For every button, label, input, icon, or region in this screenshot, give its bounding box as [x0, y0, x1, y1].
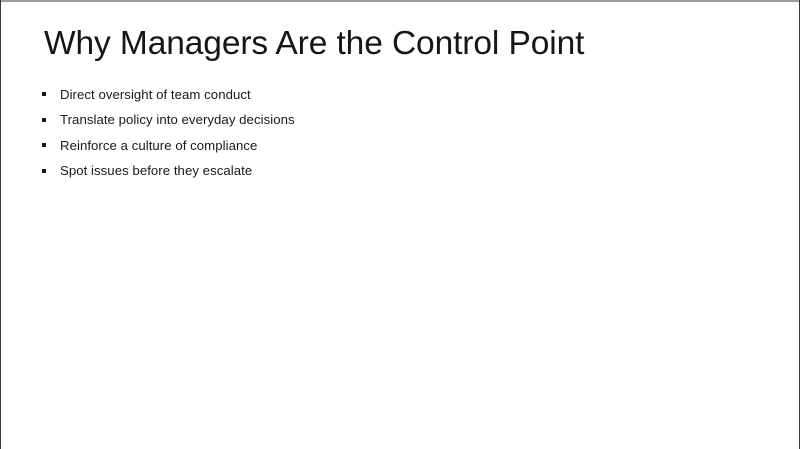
list-item: Reinforce a culture of compliance	[42, 133, 752, 159]
slide-empty-region	[1, 190, 799, 449]
list-item-label: Reinforce a culture of compliance	[60, 137, 257, 155]
bullet-list: Direct oversight of team conduct Transla…	[42, 82, 752, 184]
square-bullet-icon	[42, 118, 46, 122]
square-bullet-icon	[42, 92, 46, 96]
slide-content-area: Why Managers Are the Control Point Direc…	[0, 0, 800, 449]
presentation-slide: Why Managers Are the Control Point Direc…	[0, 0, 800, 449]
list-item: Spot issues before they escalate	[42, 159, 752, 185]
list-item-label: Direct oversight of team conduct	[60, 86, 251, 104]
list-item: Translate policy into everyday decisions	[42, 108, 752, 134]
list-item-label: Translate policy into everyday decisions	[60, 111, 295, 129]
square-bullet-icon	[42, 169, 46, 173]
list-item: Direct oversight of team conduct	[42, 82, 752, 108]
square-bullet-icon	[42, 143, 46, 147]
list-item-label: Spot issues before they escalate	[60, 162, 252, 180]
slide-title: Why Managers Are the Control Point	[44, 24, 744, 65]
